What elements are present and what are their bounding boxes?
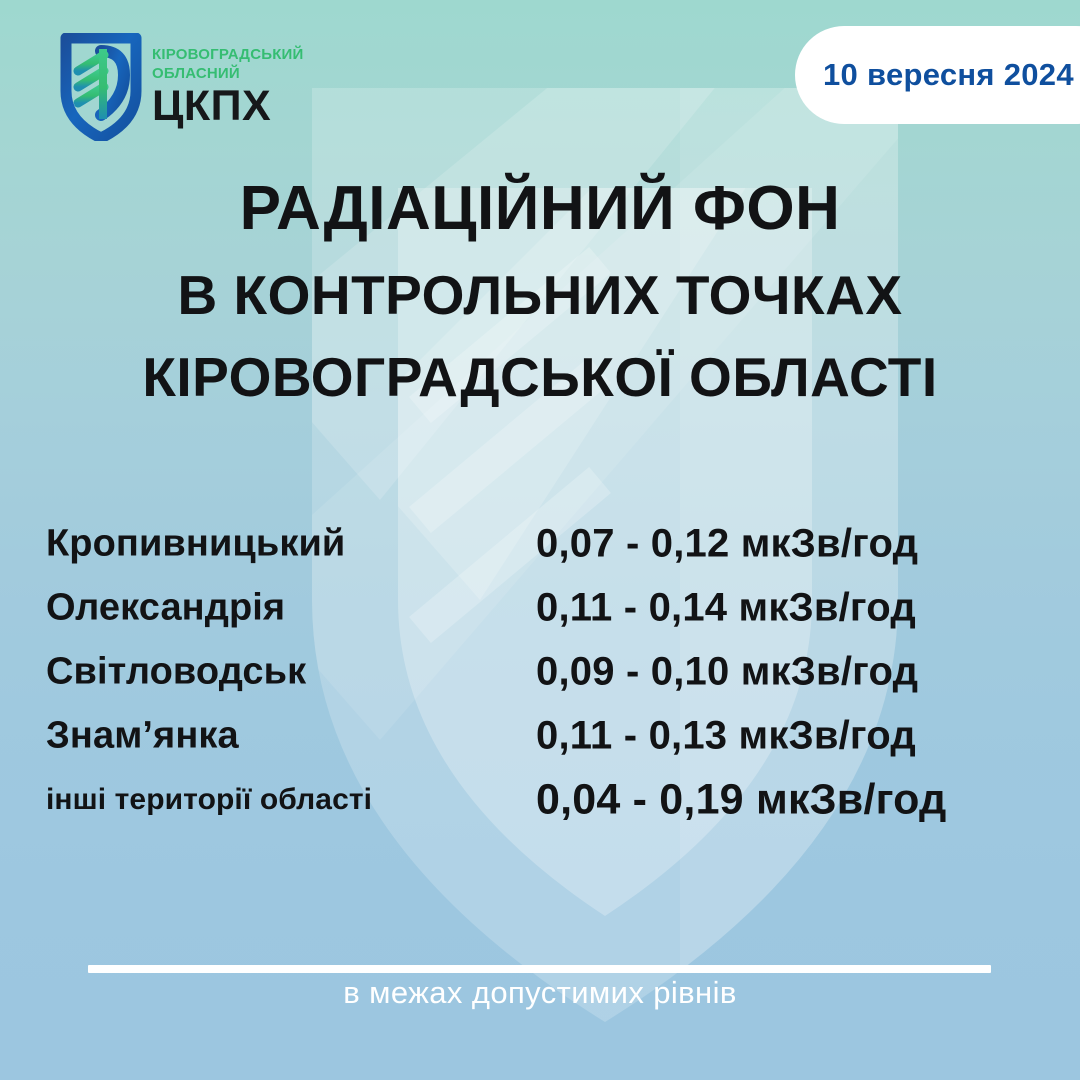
- measurement-row: Знам’янка 0,11 - 0,13 мкЗв/год: [0, 704, 1080, 768]
- footer-note: в межах допустимих рівнів: [0, 975, 1080, 1011]
- measurement-location: інші території області: [46, 783, 372, 817]
- title-line-1: РАДІАЦІЙНИЙ ФОН: [0, 178, 1080, 240]
- measurement-row: Кропивницький 0,07 - 0,12 мкЗв/год: [0, 512, 1080, 576]
- logo-line-2: ОБЛАСНИЙ: [152, 64, 304, 83]
- title-line-3: КІРОВОГРАДСЬКОЇ ОБЛАСТІ: [0, 350, 1080, 405]
- measurement-location: Олександрія: [46, 587, 285, 630]
- measurement-location: Знам’янка: [46, 715, 239, 758]
- measurement-value: 0,04 - 0,19 мкЗв/год: [536, 776, 947, 825]
- measurement-value: 0,11 - 0,13 мкЗв/год: [536, 714, 916, 759]
- measurements-list: Кропивницький 0,07 - 0,12 мкЗв/год Олекс…: [0, 512, 1080, 832]
- title-line-2: В КОНТРОЛЬНИХ ТОЧКАХ: [0, 268, 1080, 323]
- measurement-location: Кропивницький: [46, 523, 345, 566]
- measurement-row: інші території області 0,04 - 0,19 мкЗв/…: [0, 768, 1080, 832]
- measurement-row: Світловодськ 0,09 - 0,10 мкЗв/год: [0, 640, 1080, 704]
- date-badge-text: 10 вересня 2024: [823, 57, 1074, 93]
- measurement-value: 0,07 - 0,12 мкЗв/год: [536, 522, 918, 567]
- date-badge: 10 вересня 2024: [795, 26, 1080, 124]
- measurement-row: Олександрія 0,11 - 0,14 мкЗв/год: [0, 576, 1080, 640]
- footer-divider: [88, 965, 991, 973]
- logo-abbreviation: ЦКПХ: [152, 85, 304, 128]
- shield-logo-icon: [60, 33, 142, 141]
- measurement-location: Світловодськ: [46, 651, 306, 694]
- page-title: РАДІАЦІЙНИЙ ФОН В КОНТРОЛЬНИХ ТОЧКАХ КІР…: [0, 178, 1080, 405]
- poster-canvas: КІРОВОГРАДСЬКИЙ ОБЛАСНИЙ ЦКПХ 10 вересня…: [0, 0, 1080, 1080]
- measurement-value: 0,09 - 0,10 мкЗв/год: [536, 650, 918, 695]
- logo-text-block: КІРОВОГРАДСЬКИЙ ОБЛАСНИЙ ЦКПХ: [152, 33, 304, 128]
- brand-logo: КІРОВОГРАДСЬКИЙ ОБЛАСНИЙ ЦКПХ: [60, 33, 304, 141]
- logo-line-1: КІРОВОГРАДСЬКИЙ: [152, 45, 304, 64]
- measurement-value: 0,11 - 0,14 мкЗв/год: [536, 586, 916, 631]
